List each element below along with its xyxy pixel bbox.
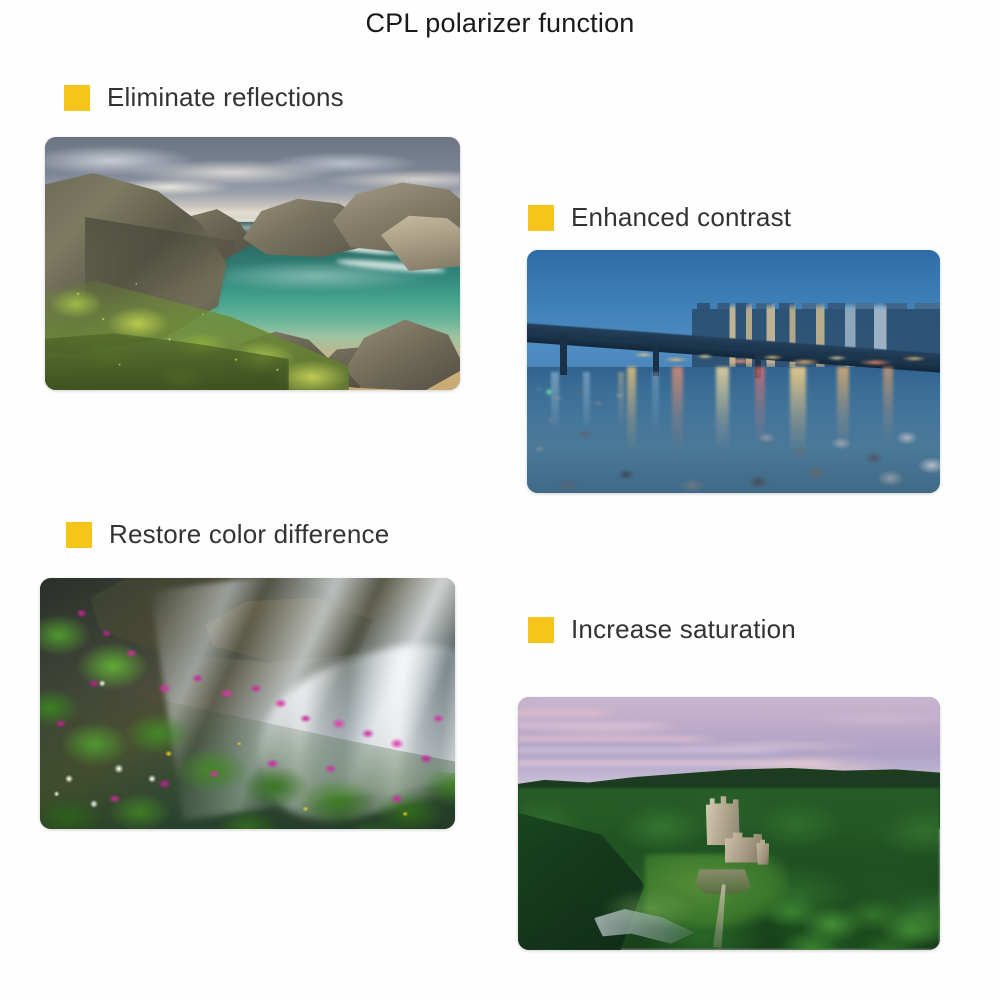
feature-label-text: Increase saturation (571, 614, 796, 645)
feature-label-eliminate-reflections: Eliminate reflections (64, 82, 344, 113)
flowers-stream-photo (40, 578, 455, 829)
yellow-square-bullet-icon (66, 522, 92, 548)
feature-label-restore-color-difference: Restore color difference (66, 519, 389, 550)
feature-label-text: Eliminate reflections (107, 82, 344, 113)
yellow-square-bullet-icon (64, 85, 90, 111)
photo-vignette (518, 697, 940, 950)
feature-label-text: Restore color difference (109, 519, 389, 550)
feature-label-text: Enhanced contrast (571, 202, 791, 233)
yellow-wildflowers (45, 137, 460, 390)
coastal-cove-photo (45, 137, 460, 390)
feature-label-increase-saturation: Increase saturation (528, 614, 796, 645)
foreground-pebbles (527, 401, 940, 493)
castle-valley-photo (518, 697, 940, 950)
yellow-square-bullet-icon (528, 617, 554, 643)
yellow-flowers (40, 578, 455, 829)
bridge-pier (560, 333, 567, 375)
yellow-square-bullet-icon (528, 205, 554, 231)
feature-label-enhanced-contrast: Enhanced contrast (528, 202, 791, 233)
page-title: CPL polarizer function (0, 8, 1000, 39)
night-city-bridge-photo (527, 250, 940, 493)
